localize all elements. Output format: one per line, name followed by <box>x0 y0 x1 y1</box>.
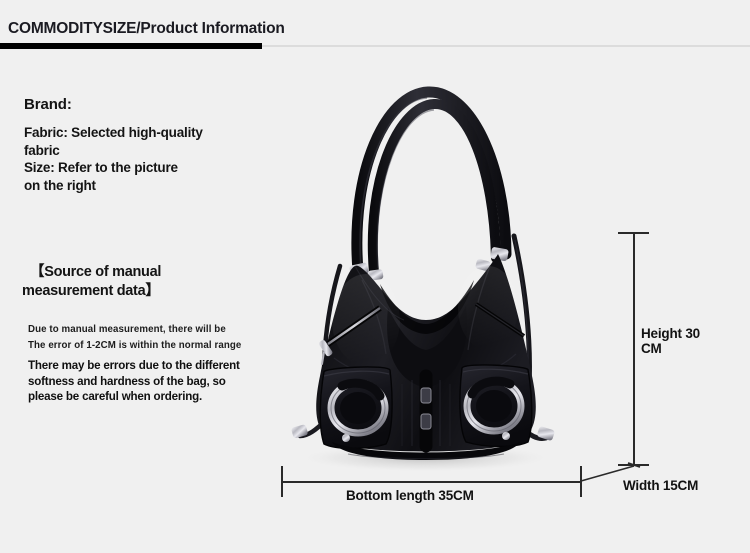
height-dimension-cap-top <box>618 232 649 234</box>
specs-block: Brand: Fabric: Selected high-quality fab… <box>24 96 274 194</box>
bag-handle <box>357 92 506 273</box>
fabric-line-2: fabric <box>24 143 274 160</box>
product-image <box>262 58 592 478</box>
height-dimension-label: Height 30 CM <box>641 326 700 356</box>
bottom-length-dimension-label: Bottom length 35CM <box>346 488 474 503</box>
bag-front-pocket-right <box>460 365 532 447</box>
height-dimension-label-line-2: CM <box>641 341 700 356</box>
measurement-source-heading-line-2: measurement data】 <box>22 282 300 301</box>
measurement-source-heading: 【Source of manual measurement data】 <box>30 263 300 301</box>
bottom-length-dimension-cap-left <box>281 466 283 497</box>
size-line-2: on the right <box>24 178 274 195</box>
measurement-source-heading-line-1: 【Source of manual <box>30 263 300 282</box>
page-header: COMMODITYSIZE/Product Information <box>0 0 750 48</box>
bottom-length-dimension-line <box>282 481 581 483</box>
size-line-1: Size: Refer to the picture <box>24 160 274 177</box>
width-dimension-label: Width 15CM <box>623 478 698 493</box>
page-title: COMMODITYSIZE/Product Information <box>8 20 285 38</box>
header-divider-accent <box>0 43 262 49</box>
bag-front-pocket-left <box>320 367 392 449</box>
brand-label: Brand: <box>24 96 274 113</box>
fabric-line-1: Fabric: Selected high-quality <box>24 125 274 142</box>
product-information-page: COMMODITYSIZE/Product Information Brand:… <box>0 0 750 553</box>
height-dimension-line <box>633 233 635 465</box>
height-dimension-label-line-1: Height 30 <box>641 326 700 341</box>
